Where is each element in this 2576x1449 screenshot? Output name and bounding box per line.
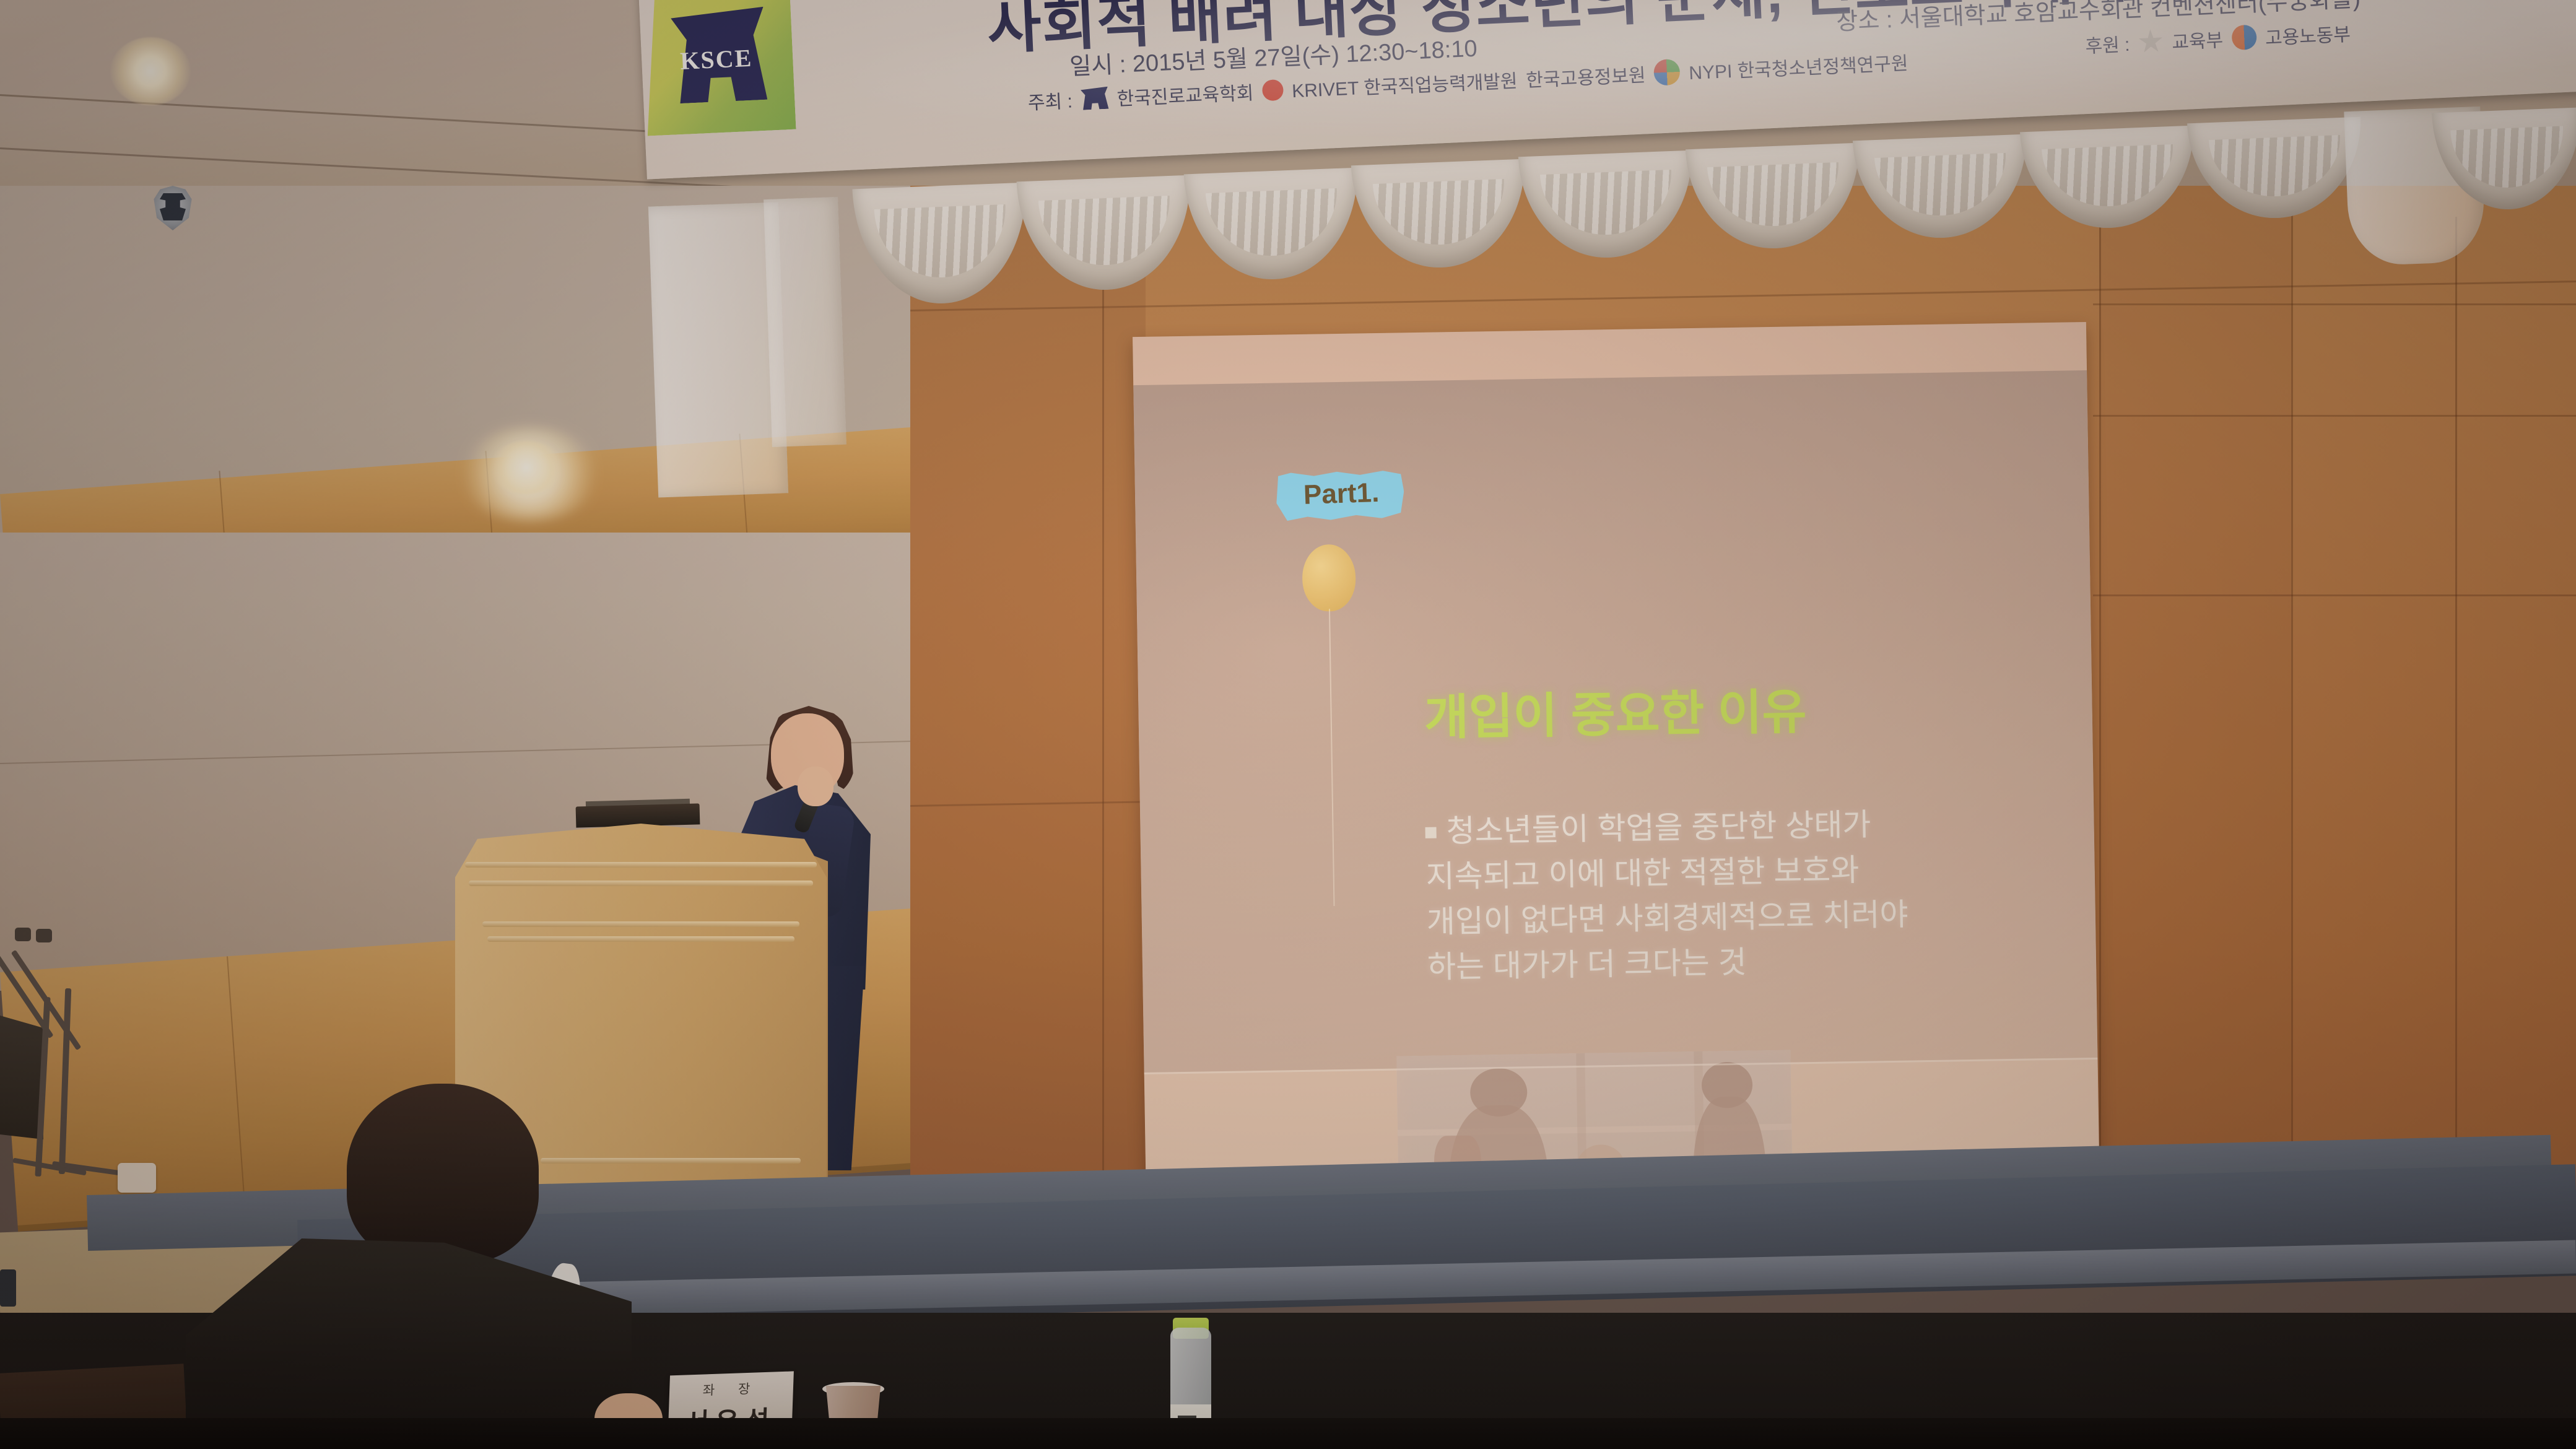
folding-chair <box>0 1016 43 1139</box>
sheer-curtain-panel <box>764 197 846 447</box>
banner-host-label: 주최 : <box>1027 85 1073 115</box>
banner-host-0: 한국진로교육학회 <box>1116 77 1255 111</box>
bullet-square-icon <box>1425 827 1437 838</box>
ceiling-downlight <box>110 37 191 105</box>
phone-edge <box>0 1269 16 1307</box>
audience-head <box>347 1084 539 1263</box>
keis-logo-icon <box>1653 59 1681 86</box>
banner-sponsor-1: 고용노동부 <box>2265 19 2351 50</box>
slide-bullet-block: 청소년들이 학업을 중단한 상태가 지속되고 이에 대한 적절한 보호와 개입이… <box>1425 799 2053 990</box>
podium-moulding <box>541 1158 801 1164</box>
podium-moulding <box>487 936 794 942</box>
slide-bullet-text: 개입이 없다면 사회경제적으로 치러야 <box>1426 897 1908 939</box>
podium-moulding <box>465 862 817 868</box>
nameplate-role: 좌 장 <box>669 1377 794 1400</box>
banner-host-3: NYPI 한국청소년정책연구원 <box>1688 48 1908 85</box>
front-table-edge <box>0 1418 2576 1449</box>
mic-clip <box>36 929 52 942</box>
slide-part-badge: Part1. <box>1276 469 1405 522</box>
speaker-hand <box>798 767 833 806</box>
moe-logo-icon <box>2138 28 2164 54</box>
wall-panel-shade <box>2099 186 2291 1276</box>
projection-screen: Part1. 개입이 중요한 이유 청소년들이 학업을 중단한 상태가 지속되고… <box>1133 322 2100 1210</box>
ksce-logo-text: KSCE <box>679 43 761 76</box>
banner-date-label: 일시 : <box>1069 51 1127 80</box>
banner-host-2: 한국고용정보원 <box>1525 59 1646 92</box>
banner-host-1: KRIVET 한국직업능력개발원 <box>1291 66 1518 103</box>
slide-bullet-text: 지속되고 이에 대한 적절한 보호와 <box>1425 853 1859 894</box>
podium-moulding <box>482 921 799 927</box>
wall-panel-line <box>2455 217 2457 1257</box>
slide-bullet-text: 하는 대가가 더 크다는 것 <box>1427 945 1747 985</box>
ksce-mini-logo-icon <box>1081 87 1109 110</box>
moel-logo-icon <box>2231 25 2257 51</box>
mic-clip <box>15 928 31 941</box>
banner-sponsor-0: 교육부 <box>2171 25 2224 54</box>
balloon-icon <box>1302 544 1356 612</box>
wall-panel-line <box>2291 211 2293 1257</box>
krivet-logo-icon <box>1261 79 1284 102</box>
banner-sponsor-label: 후원 : <box>2084 29 2130 58</box>
slide-bullet-text: 청소년들이 학업을 중단한 상태가 <box>1446 807 1871 849</box>
wall-panel-shade <box>910 186 1146 1276</box>
wall-sconce-light <box>489 441 563 494</box>
podium-moulding <box>469 881 813 886</box>
banner-sponsor-row: 후원 : 교육부 고용노동부 <box>2084 19 2351 58</box>
conference-hall-photo: KSCE 제40차 한국진로교육학회 학술대회 사회적 배려 대상 청소년의 문… <box>0 0 2576 1449</box>
banner-place-label: 장소 : <box>1836 7 1894 35</box>
